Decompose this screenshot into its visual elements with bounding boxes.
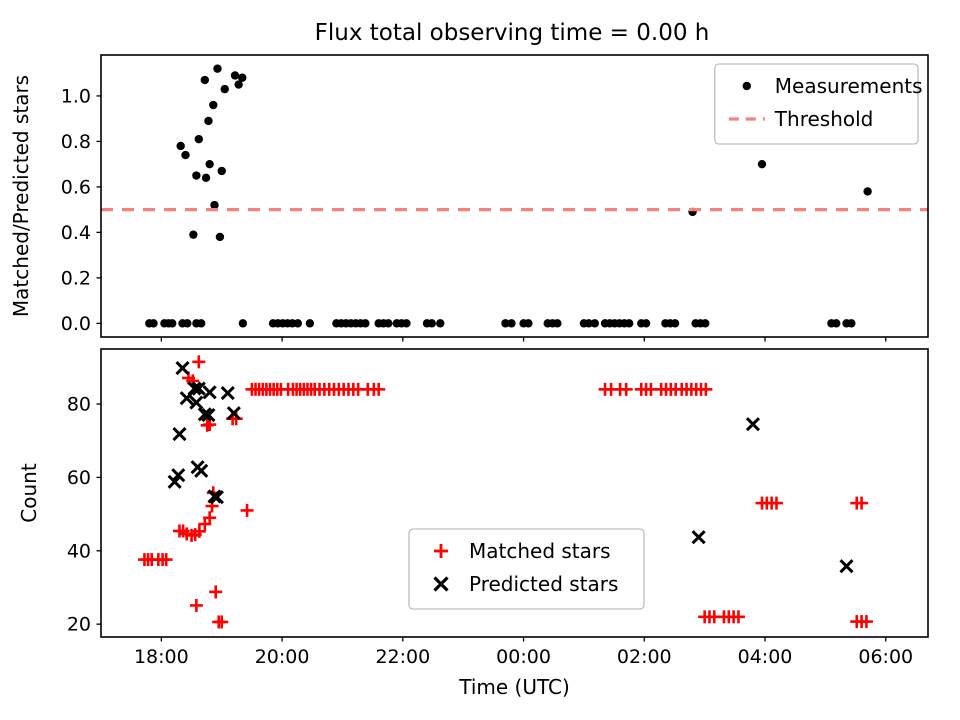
- measurement-point: [591, 319, 599, 327]
- y-tick-label: 0.4: [61, 222, 91, 244]
- bottom-panel-x-axis-label: Time (UTC): [458, 675, 570, 699]
- y-tick-label: 0.0: [61, 313, 91, 335]
- y-tick-label: 0.6: [61, 176, 91, 198]
- measurement-point: [524, 319, 532, 327]
- x-tick-label: 00:00: [496, 646, 551, 668]
- measurement-point: [361, 319, 369, 327]
- measurement-point: [625, 319, 633, 327]
- y-tick-label: 60: [67, 467, 91, 489]
- legend-dot-icon: [743, 82, 751, 90]
- measurement-point: [209, 101, 217, 109]
- measurement-point: [402, 319, 410, 327]
- x-tick-label: 06:00: [858, 646, 913, 668]
- legend-label: Matched stars: [469, 539, 611, 563]
- measurement-point: [202, 174, 210, 182]
- y-tick-label: 0.2: [61, 267, 91, 289]
- measurement-point: [847, 319, 855, 327]
- measurement-point: [306, 319, 314, 327]
- measurement-point: [642, 319, 650, 327]
- measurement-point: [168, 319, 176, 327]
- measurement-point: [221, 85, 229, 93]
- measurement-point: [239, 319, 247, 327]
- measurement-point: [507, 319, 515, 327]
- measurement-point: [832, 319, 840, 327]
- measurement-point: [210, 201, 218, 209]
- measurement-point: [149, 319, 157, 327]
- measurement-point: [758, 160, 766, 168]
- y-tick-label: 80: [67, 394, 91, 416]
- measurement-point: [294, 319, 302, 327]
- page-title: Flux total observing time = 0.00 h: [315, 20, 710, 46]
- figure-container: Flux total observing time = 0.00 h 0.00.…: [0, 0, 960, 720]
- y-tick-label: 0.8: [61, 131, 91, 153]
- legend-label: Threshold: [774, 107, 874, 131]
- measurement-point: [553, 319, 561, 327]
- y-tick-label: 40: [67, 540, 91, 562]
- x-tick-label: 20:00: [255, 646, 310, 668]
- x-tick-label: 04:00: [738, 646, 793, 668]
- measurement-point: [863, 187, 871, 195]
- measurement-point: [189, 230, 197, 238]
- measurement-point: [671, 319, 679, 327]
- measurement-point: [204, 117, 212, 125]
- top-panel-y-axis-label: Matched/Predicted stars: [9, 75, 33, 317]
- x-tick-label: 18:00: [134, 646, 189, 668]
- measurement-point: [201, 76, 209, 84]
- x-tick-label: 02:00: [617, 646, 672, 668]
- x-tick-label: 22:00: [375, 646, 430, 668]
- legend-label: Predicted stars: [469, 572, 618, 596]
- bottom-panel-y-axis-label: Count: [17, 463, 41, 523]
- measurement-point: [238, 74, 246, 82]
- measurement-point: [216, 233, 224, 241]
- measurement-point: [384, 319, 392, 327]
- matplotlib-figure: Flux total observing time = 0.00 h 0.00.…: [0, 0, 960, 720]
- bottom-panel-legend: Matched starsPredicted stars: [409, 529, 644, 609]
- top-panel-legend: MeasurementsThreshold: [715, 64, 923, 144]
- measurement-point: [436, 319, 444, 327]
- y-tick-label: 20: [67, 614, 91, 636]
- measurement-point: [176, 142, 184, 150]
- y-tick-label: 1.0: [61, 85, 91, 107]
- measurement-point: [197, 319, 205, 327]
- legend-label: Measurements: [775, 74, 923, 98]
- measurement-point: [213, 64, 221, 72]
- measurement-point: [195, 135, 203, 143]
- measurement-point: [183, 319, 191, 327]
- measurement-point: [428, 319, 436, 327]
- measurement-point: [181, 151, 189, 159]
- measurement-point: [231, 71, 239, 79]
- measurement-point: [192, 171, 200, 179]
- measurement-point: [701, 319, 709, 327]
- measurement-point: [205, 160, 213, 168]
- measurement-point: [218, 167, 226, 175]
